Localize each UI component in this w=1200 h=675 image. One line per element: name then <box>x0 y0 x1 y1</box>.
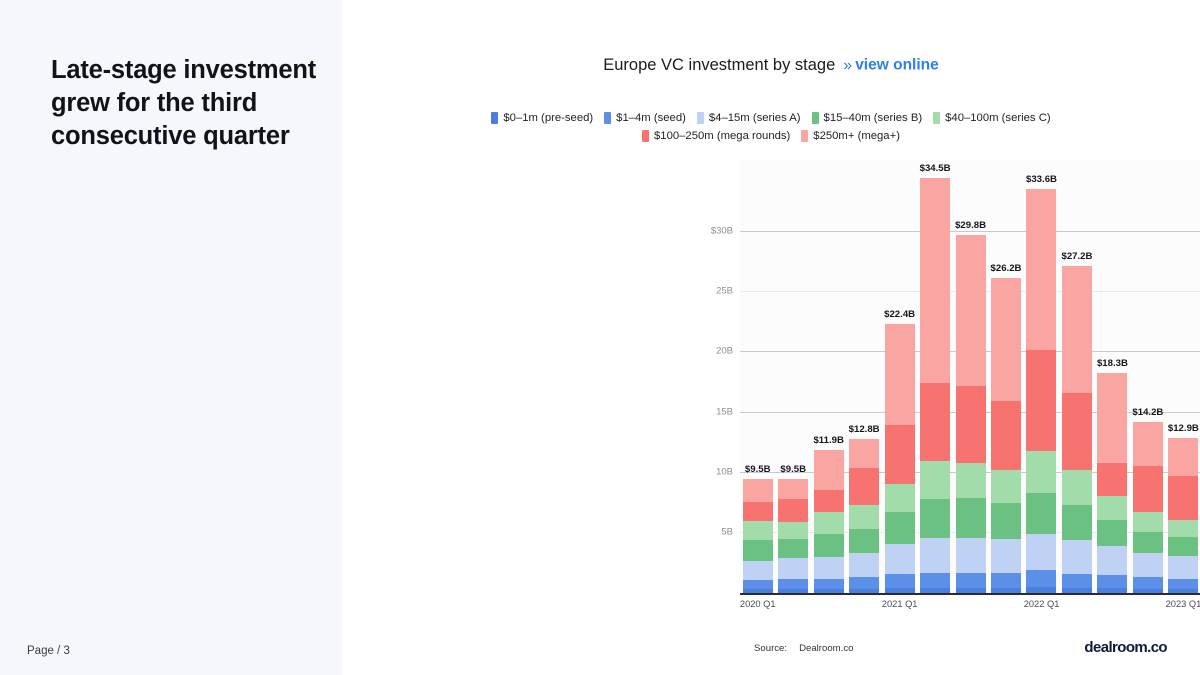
bar-series-container: $9.5B$9.5B$11.9B$12.8B$22.4B$34.5B$29.8B… <box>740 160 1200 593</box>
bar-segment-series_b[interactable] <box>743 540 773 560</box>
bar-segment-mega_plus[interactable] <box>1062 266 1092 393</box>
bar-total-label: $9.5B <box>745 464 771 475</box>
bar-segment-seed[interactable] <box>1026 570 1056 587</box>
bar-segment-series_b[interactable] <box>956 498 986 538</box>
view-online-link[interactable]: view online <box>855 57 939 74</box>
bar-segment-series_c[interactable] <box>991 470 1021 502</box>
bar-total-label: $27.2B <box>1061 251 1092 262</box>
stacked-bar[interactable]: $29.8B <box>956 235 986 593</box>
bar-segment-series_a[interactable] <box>885 544 915 574</box>
stacked-bar[interactable]: $9.5B <box>743 479 773 593</box>
legend-item-series_c[interactable]: $40–100m (series C) <box>933 112 1050 124</box>
bar-slot: $18.3B <box>1095 160 1130 593</box>
chart-panel: Europe VC investment by stage»view onlin… <box>342 0 1200 675</box>
bar-segment-seed[interactable] <box>885 574 915 588</box>
bar-segment-series_b[interactable] <box>1168 537 1198 556</box>
y-axis-tick: 15B <box>716 406 733 417</box>
legend-item-seed[interactable]: $1–4m (seed) <box>604 112 686 124</box>
legend-item-mega_rounds[interactable]: $100–250m (mega rounds) <box>642 130 790 142</box>
legend-item-pre_seed[interactable]: $0–1m (pre-seed) <box>491 112 593 124</box>
bar-segment-mega_plus[interactable] <box>991 278 1021 401</box>
bar-segment-mega_rounds[interactable] <box>991 401 1021 471</box>
source-note: Source:Dealroom.co <box>754 643 853 654</box>
bar-segment-series_c[interactable] <box>956 463 986 498</box>
bar-segment-mega_plus[interactable] <box>920 178 950 382</box>
legend-swatch-series_b <box>812 112 819 124</box>
legend-label-series_b: $15–40m (series B) <box>824 112 923 124</box>
bar-segment-series_a[interactable] <box>1062 540 1092 574</box>
stacked-bar[interactable]: $26.2B <box>991 278 1021 593</box>
bar-segment-seed[interactable] <box>849 577 879 589</box>
bar-segment-seed[interactable] <box>1133 577 1163 589</box>
bar-segment-series_c[interactable] <box>885 484 915 513</box>
y-axis-tick: 10B <box>716 466 733 477</box>
bar-slot: $9.5B <box>775 160 810 593</box>
bar-segment-seed[interactable] <box>743 580 773 590</box>
bar-total-label: $26.2B <box>991 263 1022 274</box>
bar-segment-series_a[interactable] <box>1168 556 1198 579</box>
legend-label-mega_plus: $250m+ (mega+) <box>813 130 900 142</box>
page-indicator: Page / 3 <box>27 645 70 657</box>
bar-total-label: $22.4B <box>884 309 915 320</box>
bar-total-label: $34.5B <box>920 163 951 174</box>
chart-header: Europe VC investment by stage»view onlin… <box>342 56 1200 75</box>
legend-swatch-pre_seed <box>491 112 498 124</box>
source-label: Source: <box>754 643 787 654</box>
y-axis-tick: 25B <box>716 286 733 297</box>
bar-slot: $27.2B <box>1059 160 1094 593</box>
bar-slot: $26.2B <box>988 160 1023 593</box>
bar-segment-series_c[interactable] <box>849 505 879 529</box>
bar-segment-mega_plus[interactable] <box>1168 438 1198 476</box>
bar-segment-seed[interactable] <box>1168 579 1198 590</box>
x-axis: 2020 Q12021 Q12022 Q12023 Q12024 Q12025 … <box>740 599 1200 615</box>
bar-slot: $33.6B <box>1024 160 1059 593</box>
bar-segment-mega_rounds[interactable] <box>920 383 950 461</box>
stacked-bar[interactable]: $11.9B <box>814 450 844 593</box>
stacked-bar[interactable]: $34.5B <box>920 178 950 593</box>
bar-segment-series_a[interactable] <box>991 539 1021 573</box>
x-axis-tick: 2022 Q1 <box>1024 599 1060 609</box>
bar-segment-series_a[interactable] <box>1026 534 1056 570</box>
slide-headline: Late-stage investment grew for the third… <box>51 54 321 153</box>
bar-segment-series_a[interactable] <box>1097 546 1127 575</box>
bar-segment-seed[interactable] <box>991 573 1021 589</box>
bar-segment-series_b[interactable] <box>920 499 950 537</box>
stacked-bar[interactable]: $12.9B <box>1168 438 1198 593</box>
legend-swatch-mega_rounds <box>642 130 649 142</box>
bar-segment-series_a[interactable] <box>956 538 986 573</box>
bar-segment-series_c[interactable] <box>1097 496 1127 520</box>
stacked-bar[interactable]: $12.8B <box>849 439 879 593</box>
bar-segment-seed[interactable] <box>814 579 844 590</box>
bar-segment-seed[interactable] <box>778 579 808 590</box>
y-axis-tick: $30B <box>711 226 733 237</box>
bar-segment-mega_plus[interactable] <box>743 479 773 502</box>
bar-segment-series_c[interactable] <box>778 522 808 539</box>
bar-total-label: $33.6B <box>1026 174 1057 185</box>
bar-segment-mega_plus[interactable] <box>1133 422 1163 465</box>
bar-total-label: $29.8B <box>955 220 986 231</box>
bar-segment-series_b[interactable] <box>849 529 879 553</box>
double-chevron-right-icon: » <box>843 57 852 74</box>
bar-segment-series_a[interactable] <box>778 558 808 578</box>
legend-item-series_a[interactable]: $4–15m (series A) <box>697 112 801 124</box>
bar-segment-series_b[interactable] <box>1026 493 1056 534</box>
bar-segment-mega_rounds[interactable] <box>1062 393 1092 470</box>
bar-total-label: $11.9B <box>813 435 843 446</box>
plot-area: $30B25B20B15B10B5B $9.5B$9.5B$11.9B$12.8… <box>740 160 1200 595</box>
legend-swatch-seed <box>604 112 611 124</box>
bar-segment-series_b[interactable] <box>1133 532 1163 554</box>
legend-swatch-series_c <box>933 112 940 124</box>
bar-segment-series_a[interactable] <box>743 561 773 580</box>
stacked-bar[interactable]: $22.4B <box>885 324 915 593</box>
legend-item-mega_plus[interactable]: $250m+ (mega+) <box>801 130 900 142</box>
chart-legend: $0–1m (pre-seed)$1–4m (seed)$4–15m (seri… <box>342 112 1200 142</box>
bar-segment-seed[interactable] <box>920 573 950 589</box>
bar-total-label: $9.5B <box>780 464 806 475</box>
bar-slot: $22.4B <box>882 160 917 593</box>
x-axis-tick: 2021 Q1 <box>882 599 918 609</box>
bar-segment-series_c[interactable] <box>1026 451 1056 493</box>
bar-segment-series_b[interactable] <box>1062 505 1092 540</box>
y-axis-tick: 20B <box>716 346 733 357</box>
bar-segment-series_a[interactable] <box>814 557 844 579</box>
bar-slot: $14.2B <box>1130 160 1165 593</box>
bar-segment-series_c[interactable] <box>1062 470 1092 505</box>
bar-segment-seed[interactable] <box>1097 575 1127 588</box>
bar-segment-series_c[interactable] <box>1168 520 1198 537</box>
bar-segment-series_c[interactable] <box>1133 512 1163 531</box>
bar-segment-mega_plus[interactable] <box>885 324 915 425</box>
bar-slot: $34.5B <box>917 160 952 593</box>
bar-segment-mega_plus[interactable] <box>814 450 844 490</box>
bar-segment-mega_plus[interactable] <box>849 439 879 468</box>
y-axis-tick: 5B <box>721 526 733 537</box>
stacked-bar[interactable]: $9.5B <box>778 479 808 593</box>
bar-segment-mega_rounds[interactable] <box>1026 350 1056 451</box>
stacked-bar[interactable]: $14.2B <box>1133 422 1163 593</box>
bar-segment-series_a[interactable] <box>1133 553 1163 577</box>
bar-segment-mega_rounds[interactable] <box>885 425 915 484</box>
bar-slot: $9.5B <box>740 160 775 593</box>
bar-segment-mega_rounds[interactable] <box>1133 466 1163 513</box>
sidebar: Late-stage investment grew for the third… <box>0 0 342 675</box>
bar-segment-series_c[interactable] <box>920 461 950 499</box>
bar-segment-series_a[interactable] <box>920 538 950 573</box>
bar-segment-mega_rounds[interactable] <box>849 468 879 505</box>
slide-root: Late-stage investment grew for the third… <box>0 0 1200 675</box>
bar-segment-seed[interactable] <box>956 573 986 589</box>
legend-label-series_c: $40–100m (series C) <box>945 112 1050 124</box>
bar-segment-series_b[interactable] <box>885 512 915 543</box>
bar-segment-series_b[interactable] <box>1097 520 1127 546</box>
stacked-bar[interactable]: $18.3B <box>1097 373 1127 593</box>
x-axis-tick: 2020 Q1 <box>740 599 776 609</box>
bar-segment-series_a[interactable] <box>849 553 879 577</box>
legend-swatch-series_a <box>697 112 704 124</box>
plot-inner: $30B25B20B15B10B5B $9.5B$9.5B$11.9B$12.8… <box>740 160 1200 595</box>
axis-baseline <box>740 593 1200 595</box>
bar-segment-mega_plus[interactable] <box>1097 373 1127 463</box>
bar-segment-series_b[interactable] <box>778 539 808 558</box>
stacked-bar[interactable]: $33.6B <box>1026 189 1056 593</box>
bar-segment-mega_plus[interactable] <box>956 235 986 387</box>
bar-segment-series_b[interactable] <box>814 534 844 557</box>
bar-segment-mega_rounds[interactable] <box>1097 463 1127 495</box>
bar-segment-series_c[interactable] <box>743 521 773 540</box>
bar-slot: $12.8B <box>846 160 881 593</box>
bar-segment-seed[interactable] <box>1062 574 1092 588</box>
bar-total-label: $12.9B <box>1168 423 1199 434</box>
legend-label-seed: $1–4m (seed) <box>616 112 686 124</box>
source-value: Dealroom.co <box>799 643 853 654</box>
dealroom-logo: dealroom.co <box>1084 639 1167 656</box>
legend-item-series_b[interactable]: $15–40m (series B) <box>812 112 923 124</box>
bar-slot: $12.9B <box>1166 160 1200 593</box>
bar-slot: $29.8B <box>953 160 988 593</box>
bar-slot: $11.9B <box>811 160 846 593</box>
bar-segment-mega_plus[interactable] <box>778 479 808 499</box>
bar-segment-mega_rounds[interactable] <box>778 499 808 522</box>
bar-segment-mega_rounds[interactable] <box>814 490 844 513</box>
bar-total-label: $18.3B <box>1097 358 1128 369</box>
legend-label-mega_rounds: $100–250m (mega rounds) <box>654 130 790 142</box>
legend-swatch-mega_plus <box>801 130 808 142</box>
bar-segment-mega_rounds[interactable] <box>956 386 986 463</box>
bar-segment-mega_rounds[interactable] <box>1168 476 1198 519</box>
bar-segment-series_b[interactable] <box>991 503 1021 539</box>
x-axis-tick: 2023 Q1 <box>1166 599 1200 609</box>
bar-total-label: $14.2B <box>1132 407 1163 418</box>
chart-title: Europe VC investment by stage <box>603 56 835 74</box>
bar-segment-mega_plus[interactable] <box>1026 189 1056 350</box>
stacked-bar[interactable]: $27.2B <box>1062 266 1092 593</box>
legend-label-pre_seed: $0–1m (pre-seed) <box>503 112 593 124</box>
bar-segment-mega_rounds[interactable] <box>743 502 773 521</box>
legend-label-series_a: $4–15m (series A) <box>709 112 801 124</box>
bar-total-label: $12.8B <box>849 424 880 435</box>
bar-segment-series_c[interactable] <box>814 512 844 534</box>
